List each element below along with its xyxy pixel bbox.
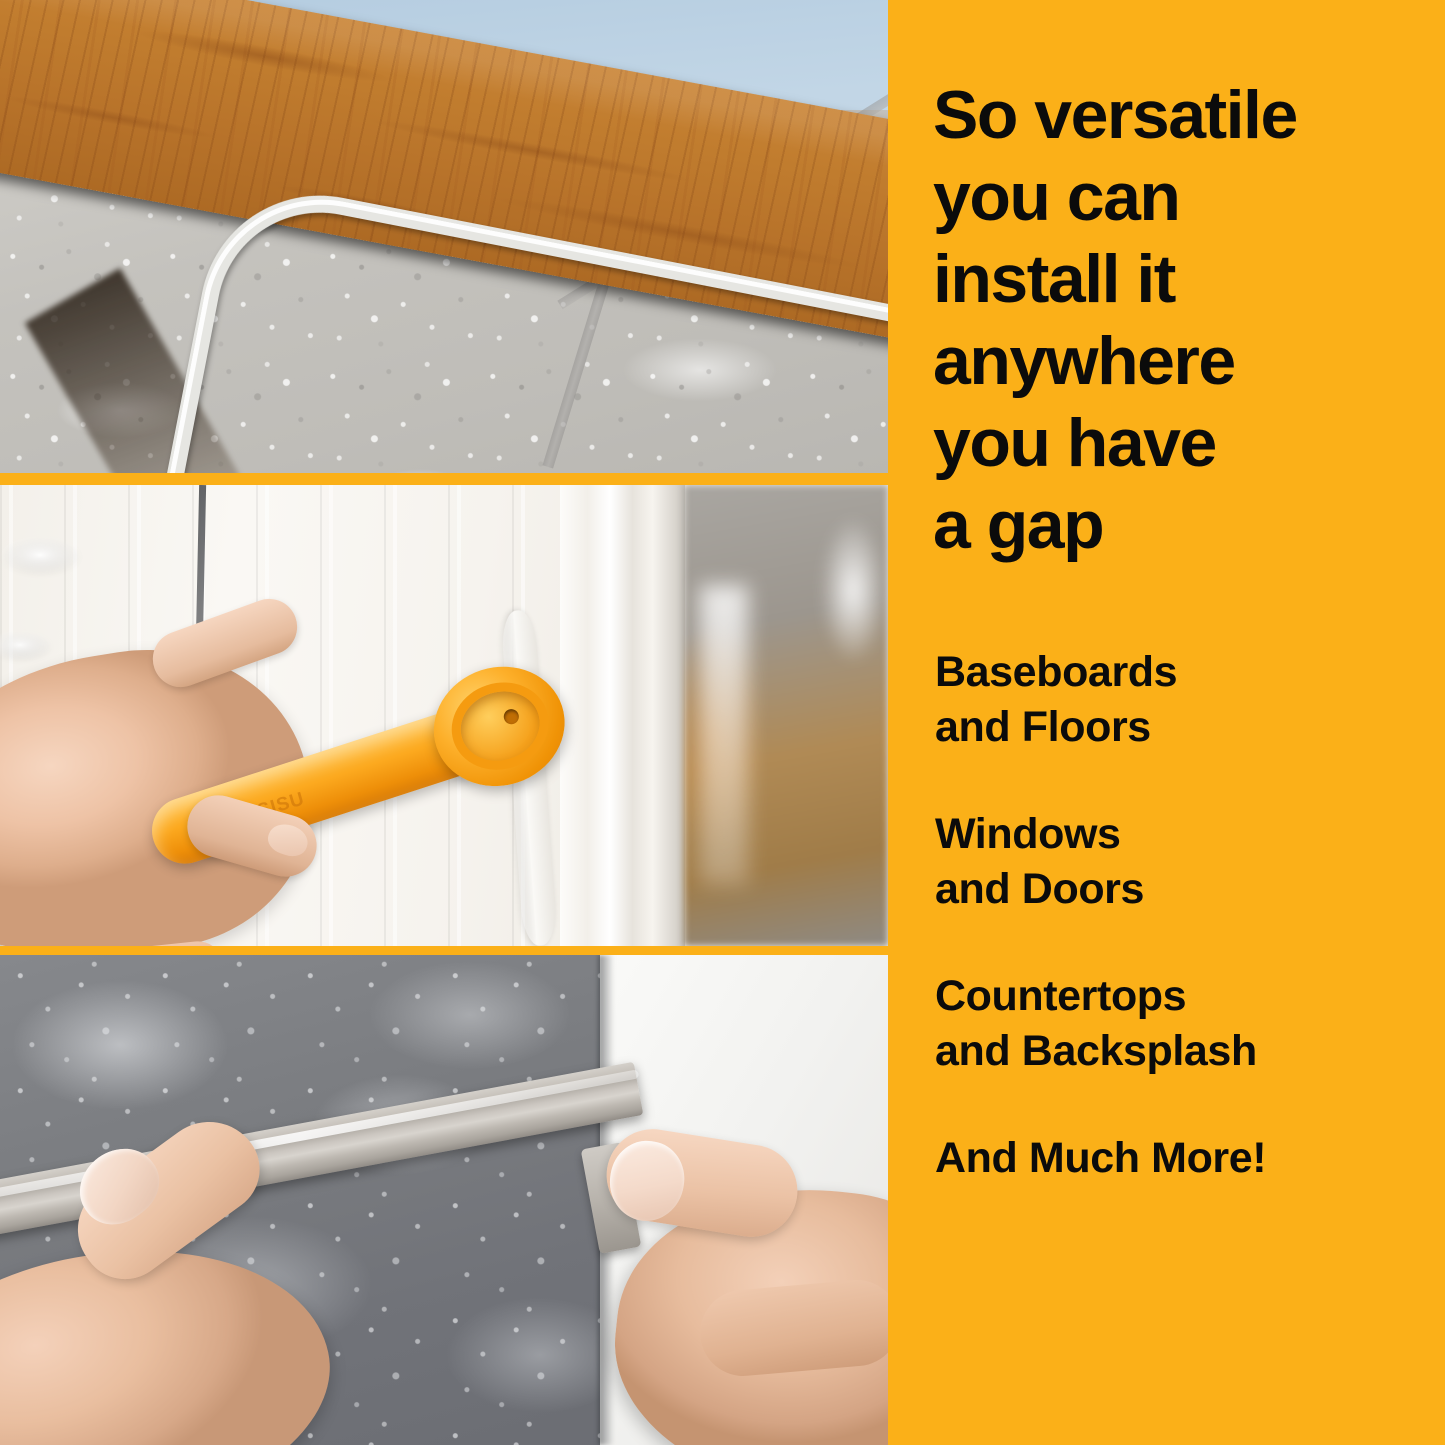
text-column: So versatile you can install it anywhere… [888,0,1445,1445]
list-item: And Much More! [935,1131,1435,1186]
photo-applicator-doorframe: SISU [0,485,888,946]
doorway-light-highlight-secondary [820,515,886,665]
feature-list: Baseboards and Floors Windows and Doors … [935,645,1435,1186]
list-item: Countertops and Backsplash [935,969,1435,1079]
list-item: Baseboards and Floors [935,645,1435,755]
headline: So versatile you can install it anywhere… [933,74,1433,566]
product-feature-image: SISU So versatile you can install it [0,0,1445,1445]
photo-column: SISU [0,0,888,1445]
door-jamb-molding [560,485,685,946]
doorway-light-highlight [700,585,748,885]
list-item: Windows and Doors [935,807,1435,917]
photo-baseboard-tile [0,0,888,473]
photo-peel-countertop [0,955,888,1445]
